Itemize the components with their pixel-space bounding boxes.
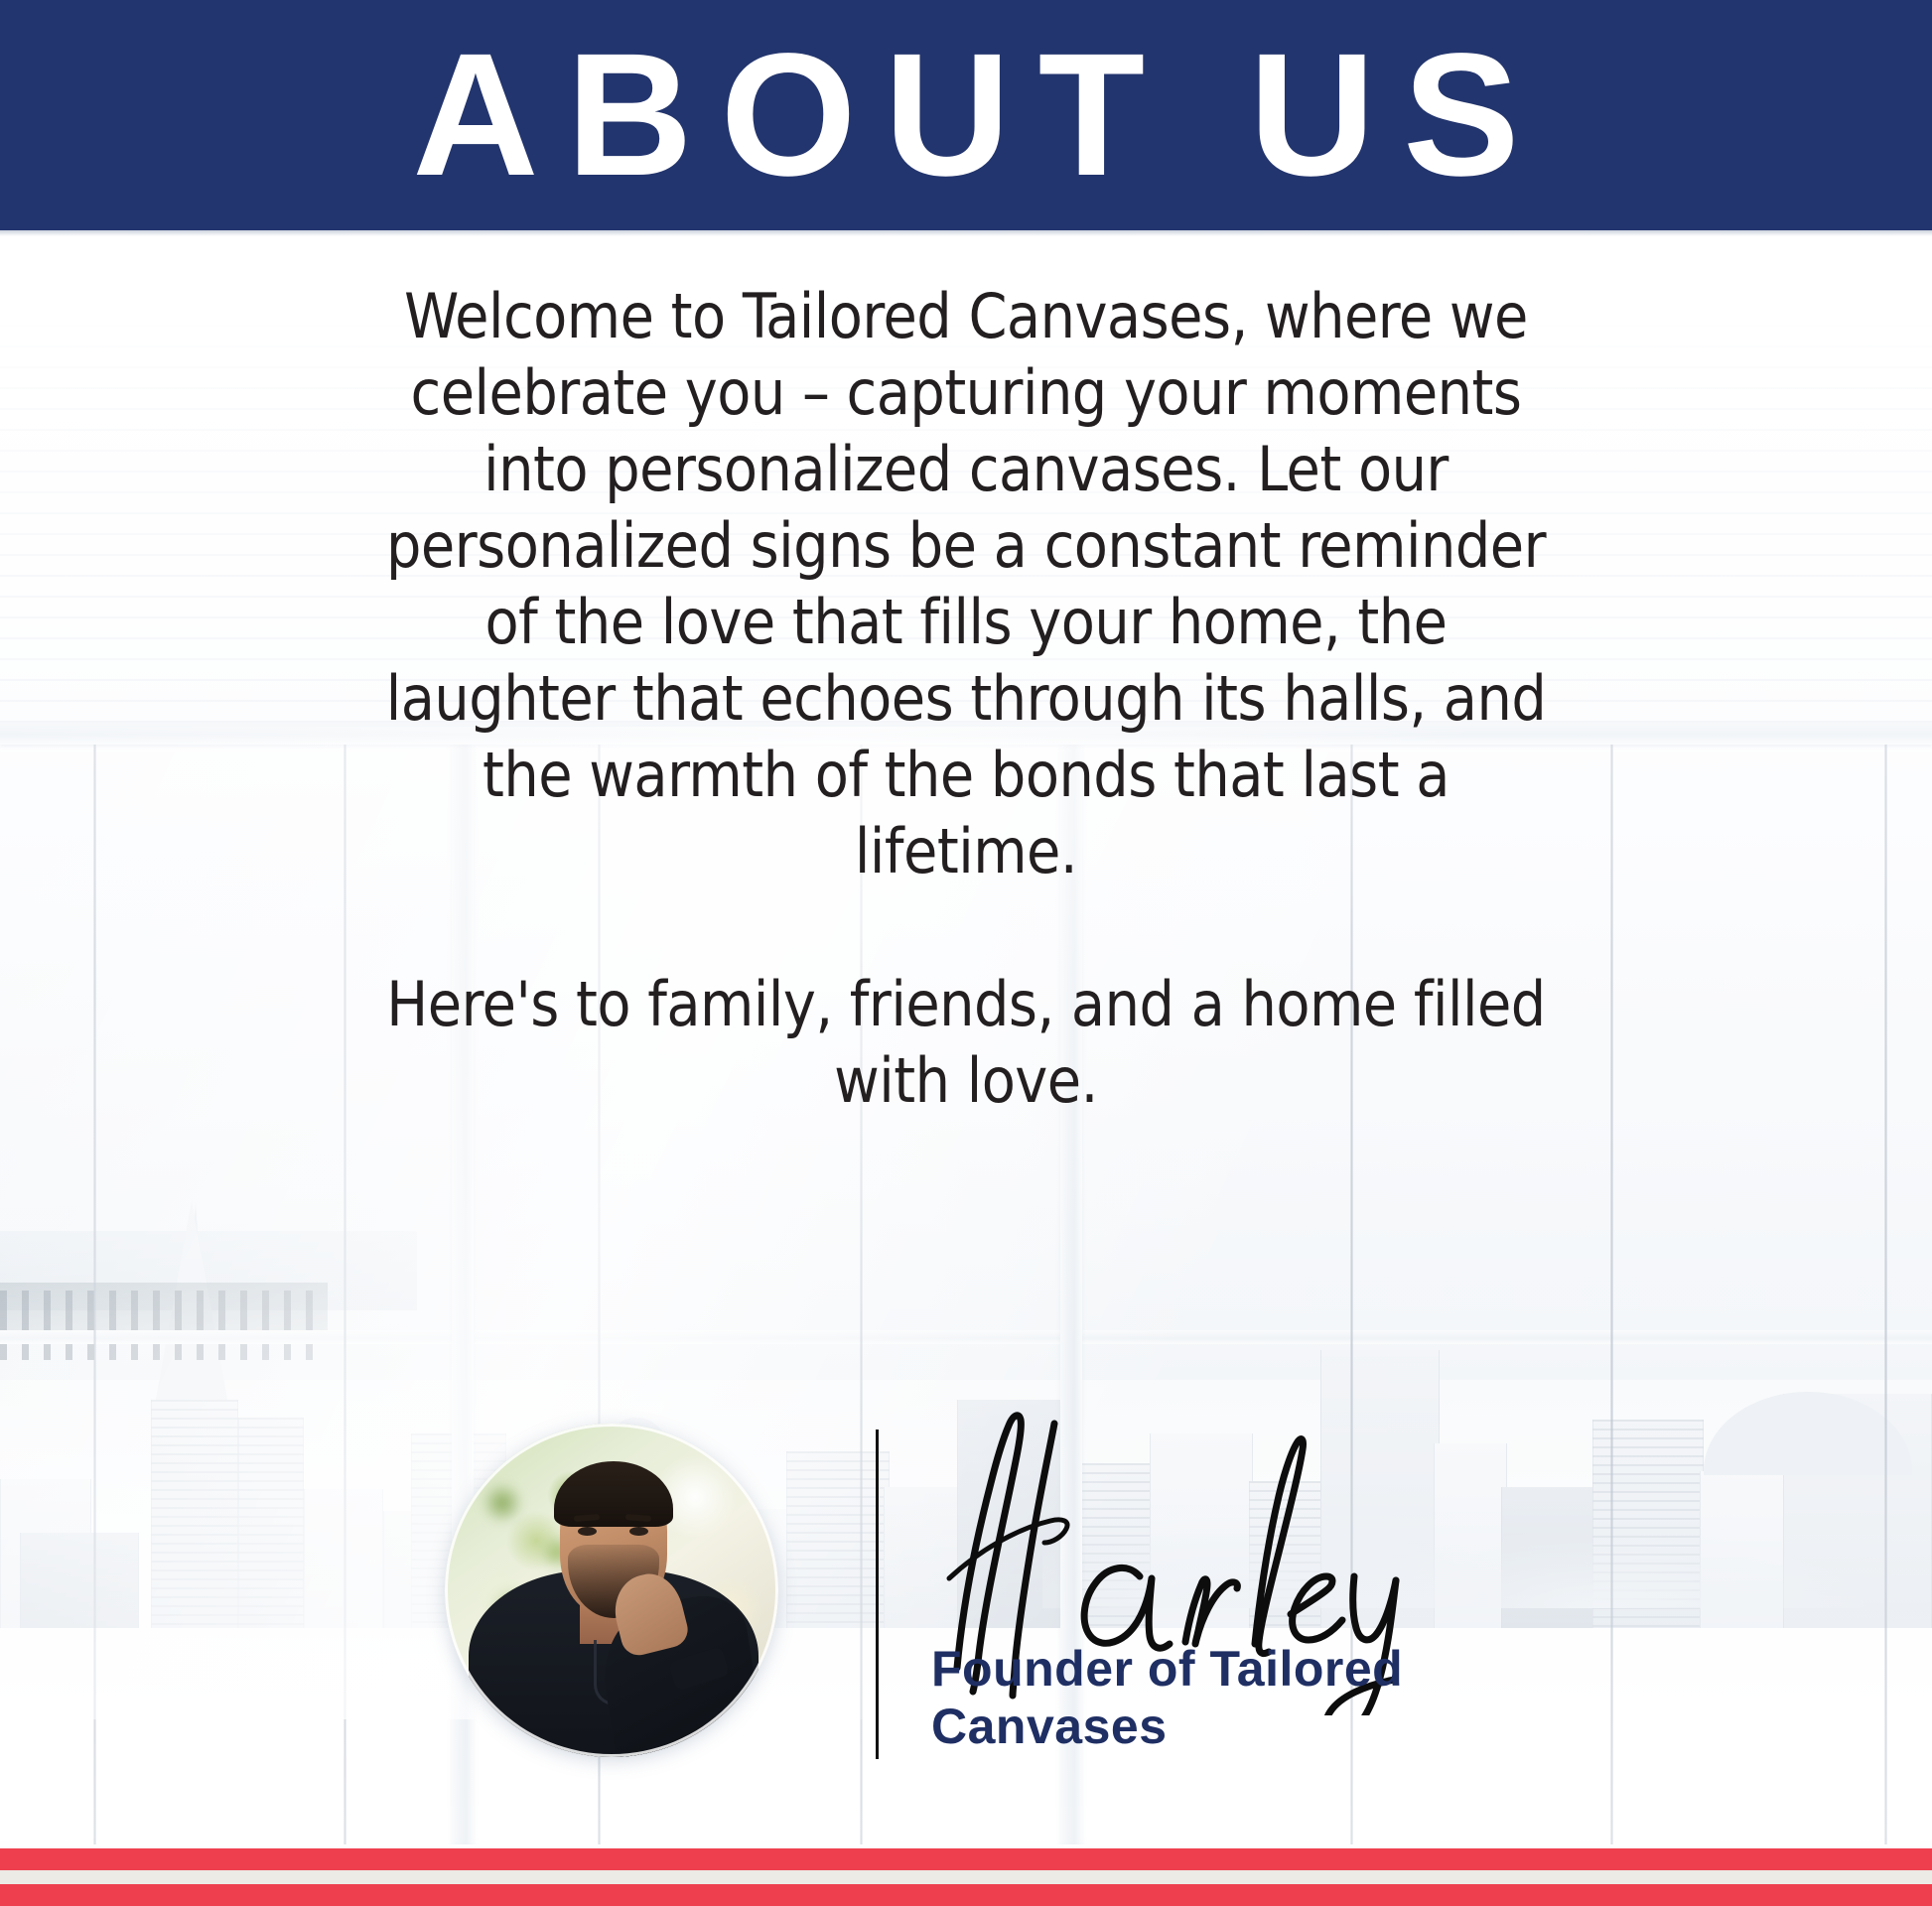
window-mullion — [344, 745, 346, 1864]
footer-stripe-gap — [0, 1870, 1932, 1884]
footer-stripe-bottom — [0, 1884, 1932, 1906]
founder-title-line-2: Canvases — [931, 1698, 1567, 1755]
balcony-railing — [0, 1291, 328, 1360]
building — [20, 1533, 139, 1628]
about-copy: Welcome to Tailored Canvases, where we c… — [380, 278, 1552, 1119]
about-paragraph-1: Welcome to Tailored Canvases, where we c… — [380, 278, 1552, 889]
building — [786, 1451, 890, 1628]
founder-title-line-1: Founder of Tailored — [931, 1640, 1567, 1698]
building — [238, 1418, 304, 1628]
building — [151, 1400, 238, 1628]
founder-title: Founder of Tailored Canvases — [931, 1640, 1567, 1755]
window-mullion — [1884, 745, 1887, 1864]
avatar — [445, 1424, 778, 1757]
page-title: ABOUT US — [384, 28, 1547, 203]
window-transom — [0, 1330, 1932, 1344]
window-mullion — [1610, 745, 1613, 1864]
about-us-poster: ABOUT US Welcome to Tailored Canvases, w… — [0, 0, 1932, 1906]
about-paragraph-2: Here's to family, friends, and a home fi… — [380, 966, 1552, 1119]
page-header: ABOUT US — [0, 0, 1932, 230]
avatar-ring — [445, 1424, 778, 1757]
window-mullion — [93, 745, 96, 1864]
header-underline — [0, 230, 1932, 236]
signature-divider — [876, 1429, 879, 1759]
footer-stripe-top — [0, 1848, 1932, 1870]
